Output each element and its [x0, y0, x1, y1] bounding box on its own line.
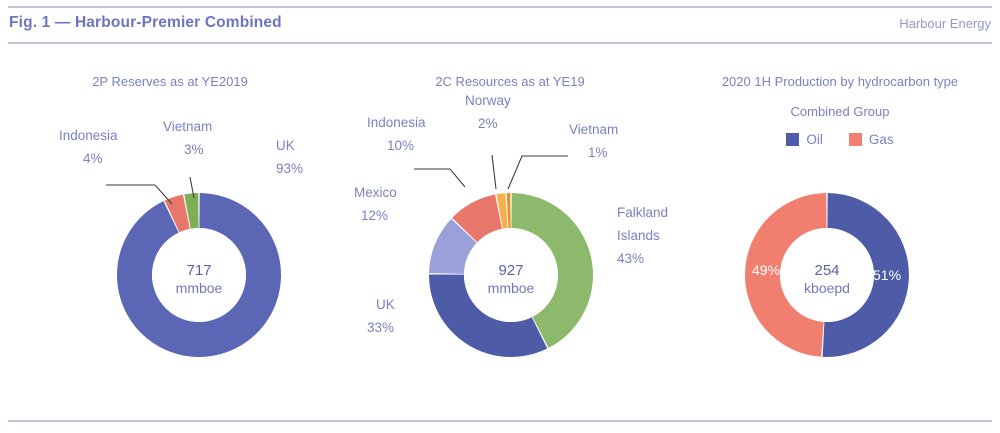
chart-panel-2p-reserves: 2P Reserves as at YE2019 717 mmboe UK 93… [0, 52, 340, 412]
slice-label-vietnam-pct-2c: 1% [588, 145, 608, 160]
slice-label-indonesia-pct-2c: 10% [387, 138, 414, 153]
slice-label-falkland-pct-2c: 43% [617, 251, 644, 266]
chart-panel-2c-resources: 2C Resources as at YE19 927 mmboe [340, 52, 680, 412]
leader-line-indonesia-2c [414, 169, 465, 187]
slice-label-mexico-name-2c: Mexico [354, 185, 397, 200]
slice-label-norway-name-2c: Norway [465, 93, 511, 108]
slice-label-falkland-line1-2c: Falkland [617, 205, 668, 220]
leader-line-vietnam-2c [508, 156, 568, 189]
slice-label-vietnam-pct-2p: 3% [184, 142, 204, 157]
divider-under-header [8, 42, 992, 44]
slice-label-uk-name-2p: UK [276, 138, 295, 153]
slice-label-mexico-pct-2c: 12% [361, 208, 388, 223]
center-unit-2p: mmboe [176, 280, 223, 296]
slice-label-uk-pct-2p: 93% [276, 161, 303, 176]
slice-label-falkland-line2-2c: Islands [617, 228, 660, 243]
figure-header: Fig. 1 — Harbour-Premier Combined Harbou… [0, 14, 1000, 40]
donut-chart-2c-resources: 927 mmboe Indonesia 10% Norway 2% Vietna… [340, 52, 680, 412]
donut-chart-2p-reserves: 717 mmboe UK 93% Indonesia 4% Vietnam 3% [0, 52, 340, 412]
leader-line-norway-2c [492, 155, 496, 189]
leader-line-indonesia-2p [106, 185, 172, 204]
divider-top [8, 6, 992, 8]
divider-bottom [8, 420, 992, 422]
slice-label-vietnam-name-2p: Vietnam [163, 119, 212, 134]
center-unit-2c: mmboe [488, 280, 535, 296]
center-value-2c: 927 [498, 262, 523, 279]
center-value-production: 254 [814, 262, 839, 279]
center-unit-production: kboepd [804, 280, 850, 296]
figure-root: Fig. 1 — Harbour-Premier Combined Harbou… [0, 0, 1000, 433]
center-value-2p: 717 [186, 262, 211, 279]
donut-chart-production: 254 kboepd 51% 49% [680, 52, 1000, 412]
slice-label-norway-pct-2c: 2% [478, 116, 498, 131]
chart-panel-production: 2020 1H Production by hydrocarbon type C… [680, 52, 1000, 412]
slice-label-vietnam-name-2c: Vietnam [569, 122, 618, 137]
slice-label-uk-name-2c: UK [376, 297, 395, 312]
page-title: Fig. 1 — Harbour-Premier Combined [9, 14, 282, 32]
slice-label-uk-pct-2c: 33% [367, 320, 394, 335]
brand-label: Harbour Energy [899, 16, 991, 31]
slice-label-indonesia-pct-2p: 4% [83, 151, 103, 166]
slice-label-indonesia-name-2c: Indonesia [367, 115, 426, 130]
slice-label-oil-pct: 51% [873, 267, 901, 283]
slice-label-gas-pct: 49% [752, 262, 780, 278]
slice-label-indonesia-name-2p: Indonesia [59, 128, 118, 143]
